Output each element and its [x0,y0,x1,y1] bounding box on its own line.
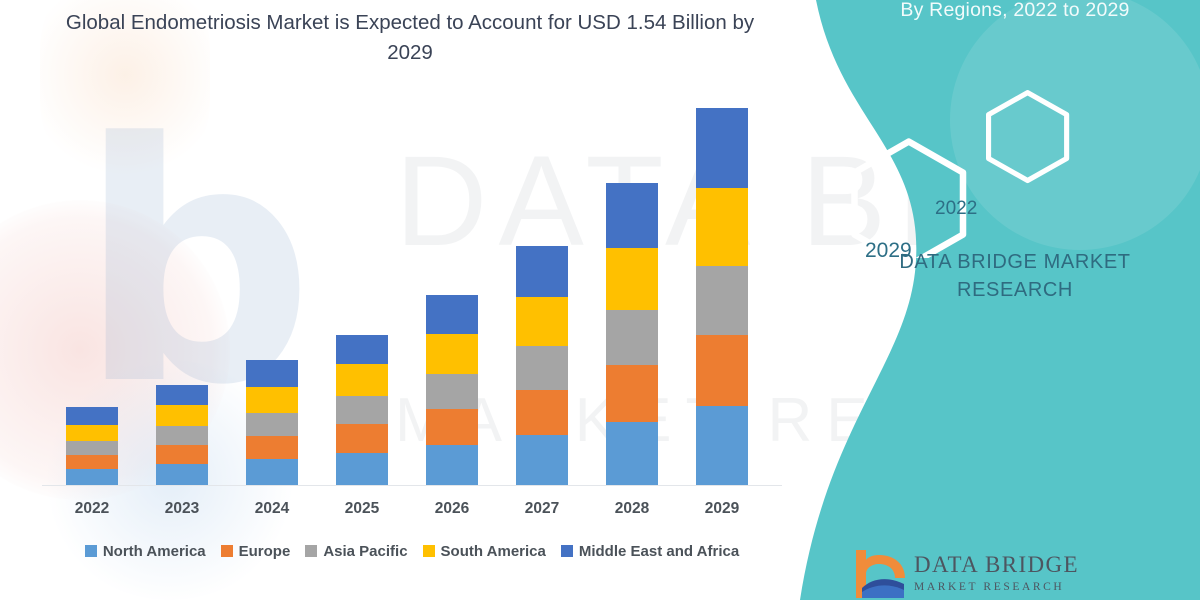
legend-swatch-icon [85,545,97,557]
bar-segment [696,108,748,188]
x-axis-line [42,485,782,486]
bar-segment [426,445,478,485]
bar-segment [156,405,208,426]
logo-mark-icon [848,548,908,600]
bar-2022 [66,407,118,485]
bar-segment [66,441,118,455]
bar-segment [606,365,658,422]
bar-segment [696,406,748,485]
legend-item-1[interactable]: Europe [221,543,291,560]
bar-segment [426,334,478,374]
teal-side-panel: By Regions, 2022 to 2029 2029 2022 DATA … [780,0,1200,600]
bar-segment [336,453,388,485]
bar-2029 [696,108,748,485]
logo-name: DATA BRIDGE [914,552,1079,578]
bar-segment [516,297,568,346]
bar-segment [246,360,298,387]
legend-label: North America [103,543,206,560]
bar-segment [606,248,658,310]
bar-segment [156,426,208,445]
panel-brand-line-2: RESEARCH [850,276,1180,304]
hexagon-2022-shape [989,93,1067,181]
bar-2025 [336,335,388,485]
bar-segment [246,413,298,436]
bar-segment [516,346,568,390]
legend-item-0[interactable]: North America [85,543,206,560]
bar-segment [516,390,568,435]
bar-segment [516,435,568,485]
bar-segment [156,445,208,464]
legend-label: South America [441,543,546,560]
panel-brand-line-1: DATA BRIDGE MARKET [850,248,1180,276]
panel-heading: By Regions, 2022 to 2029 [850,0,1180,22]
x-axis-label-2022: 2022 [52,500,132,518]
x-axis-label-2023: 2023 [142,500,222,518]
bar-segment [516,246,568,297]
x-axis-label-2028: 2028 [592,500,672,518]
legend-swatch-icon [423,545,435,557]
bar-segment [246,436,298,459]
legend-label: Middle East and Africa [579,543,739,560]
bar-segment [606,422,658,485]
bar-segment [606,183,658,248]
legend-label: Europe [239,543,291,560]
stacked-bar-chart: 20222023202420252026202720282029 [0,0,800,600]
bar-segment [696,266,748,335]
x-axis-label-2024: 2024 [232,500,312,518]
bar-segment [336,335,388,364]
bar-segment [336,364,388,396]
bar-2024 [246,360,298,485]
bar-segment [66,425,118,441]
hexagon-2022-label: 2022 [935,198,977,220]
bar-segment [336,424,388,453]
bar-segment [606,310,658,365]
bar-2028 [606,183,658,485]
panel-brand: DATA BRIDGE MARKET RESEARCH [850,248,1180,304]
chart-legend: North AmericaEuropeAsia PacificSouth Ame… [42,540,782,562]
hexagon-group: 2029 2022 [808,78,1168,258]
x-axis-label-2027: 2027 [502,500,582,518]
bar-segment [66,407,118,425]
legend-item-4[interactable]: Middle East and Africa [561,543,739,560]
legend-item-3[interactable]: South America [423,543,546,560]
bar-segment [66,469,118,485]
bar-2026 [426,295,478,485]
legend-item-2[interactable]: Asia Pacific [305,543,407,560]
bar-segment [696,188,748,266]
bar-segment [246,387,298,413]
bar-segment [426,374,478,409]
x-axis-label-2026: 2026 [412,500,492,518]
bar-segment [246,459,298,485]
logo-tagline: MARKET RESEARCH [914,581,1064,593]
bar-segment [426,409,478,445]
bar-segment [156,385,208,405]
bar-2027 [516,246,568,485]
bar-segment [66,455,118,469]
legend-label: Asia Pacific [323,543,407,560]
bar-segment [426,295,478,334]
bar-segment [336,396,388,424]
x-axis-label-2029: 2029 [682,500,762,518]
bar-2023 [156,385,208,485]
data-bridge-logo: DATA BRIDGE MARKET RESEARCH [848,548,1200,600]
legend-swatch-icon [221,545,233,557]
legend-swatch-icon [305,545,317,557]
x-axis-label-2025: 2025 [322,500,402,518]
infographic-canvas: b DATA BRIDGE MARKET RESEARCH Global End… [0,0,1200,600]
bar-segment [696,335,748,406]
legend-swatch-icon [561,545,573,557]
bar-segment [156,464,208,485]
